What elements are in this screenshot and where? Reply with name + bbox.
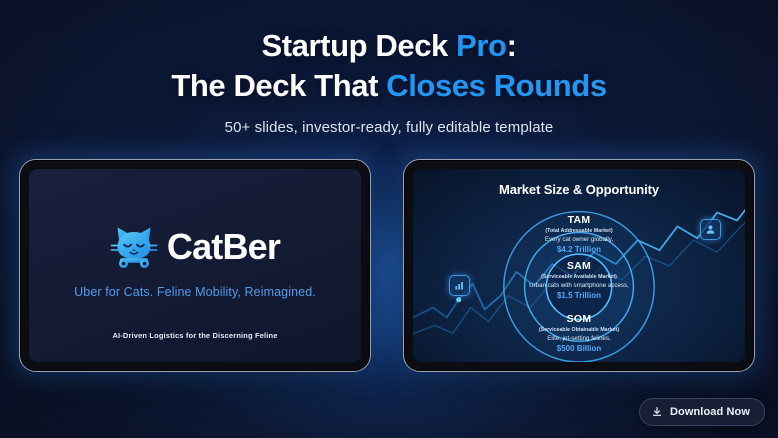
tablet-frame-left[interactable]: CatBer Uber for Cats. Feline Mobility, R… [19,159,371,372]
bar-chart-icon [454,280,465,291]
page-subtitle: 50+ slides, investor-ready, fully editab… [0,119,778,136]
tier-tam-value: $4.2 Trillion [494,245,664,254]
tier-som-name: SOM [494,314,664,326]
tier-som-description: Elite, jet-setting felines, [494,335,664,342]
tier-sam-subtitle: (Serviceable Available Market) [494,274,664,280]
promo-page: Startup Deck Pro: The Deck That Closes R… [0,0,778,438]
tier-som: SOM (Serviceable Obtainable Market) Elit… [494,314,664,353]
brand-lockup: CatBer [29,225,361,269]
page-header: Startup Deck Pro: The Deck That Closes R… [0,26,778,136]
slide-title-catber: CatBer Uber for Cats. Feline Mobility, R… [29,169,361,362]
slide-tagline: Uber for Cats. Feline Mobility, Reimagin… [29,285,361,299]
tier-tam-name: TAM [494,215,664,227]
user-badge [700,219,721,240]
tier-sam-description: Urban cats with smartphone access, [494,282,664,289]
tier-tam-description: Every cat owner globally, [494,236,664,243]
slide-screen-left: CatBer Uber for Cats. Feline Mobility, R… [29,169,361,362]
tablet-frame-right[interactable]: Market Size & Opportunity TAM (Total Add… [403,159,755,372]
title-line1-plain: Startup Deck [261,28,456,63]
slide-screen-right: Market Size & Opportunity TAM (Total Add… [413,169,745,362]
slide-footnote: AI-Driven Logistics for the Discerning F… [29,331,361,340]
tier-tam: TAM (Total Addressable Market) Every cat… [494,215,664,254]
download-icon [651,406,663,418]
title-line2-accent: Closes Rounds [386,68,606,103]
slide-heading: Market Size & Opportunity [413,182,745,197]
title-line1-tail: : [507,28,517,63]
slide-market-size: Market Size & Opportunity TAM (Total Add… [413,169,745,362]
title-line2-plain: The Deck That [171,68,386,103]
brand-wordmark: CatBer [167,229,280,265]
tier-sam: SAM (Serviceable Available Market) Urban… [494,261,664,300]
title-line-2: The Deck That Closes Rounds [171,68,606,103]
tier-som-value: $500 Billion [494,344,664,353]
download-now-button[interactable]: Download Now [639,398,765,426]
user-icon [705,224,716,235]
tier-sam-value: $1.5 Trillion [494,291,664,300]
title-line-1: Startup Deck Pro: [261,28,516,63]
chart-badge [449,275,470,296]
tier-som-subtitle: (Serviceable Obtainable Market) [494,327,664,333]
title-line1-accent: Pro [456,28,506,63]
tier-sam-name: SAM [494,261,664,273]
page-title: Startup Deck Pro: The Deck That Closes R… [0,26,778,107]
slide-preview-stage: CatBer Uber for Cats. Feline Mobility, R… [0,153,778,378]
cat-car-icon [110,225,158,269]
tier-tam-subtitle: (Total Addressable Market) [494,228,664,234]
download-now-label: Download Now [670,406,750,418]
